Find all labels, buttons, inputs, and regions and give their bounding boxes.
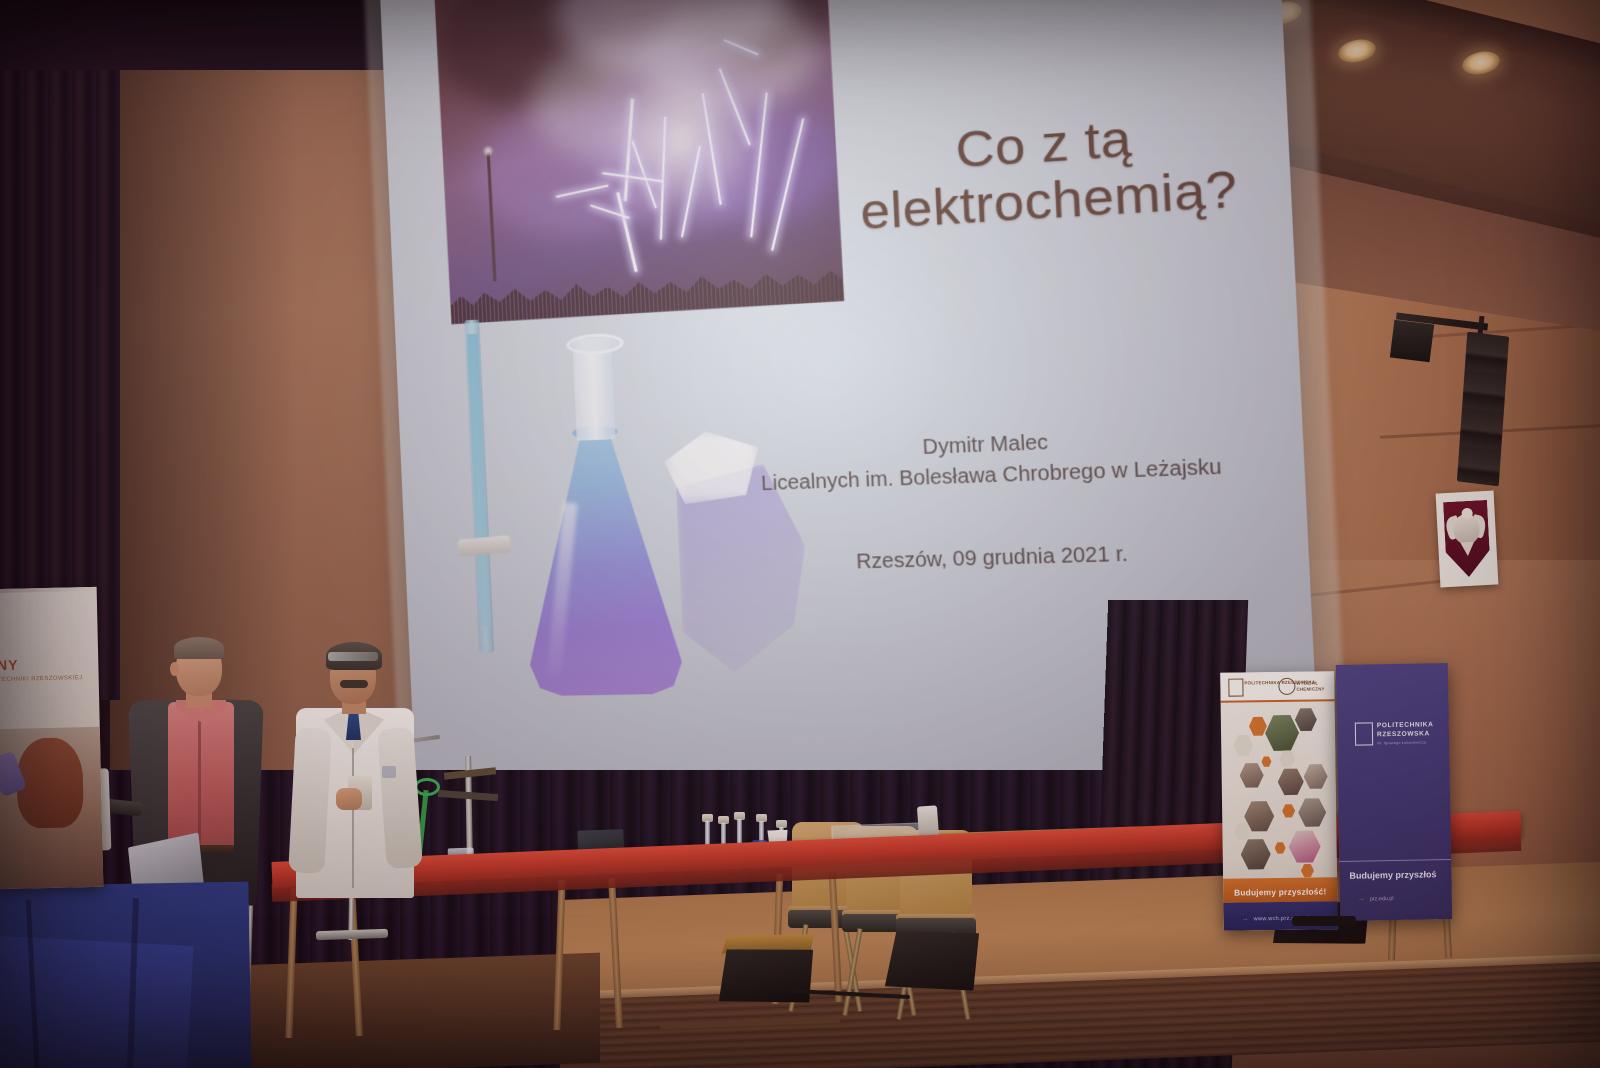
banner-logo-sub: im. Ignacego Łukasiewicza bbox=[1377, 740, 1426, 745]
hex-photo bbox=[1278, 768, 1304, 796]
rolled-paper bbox=[917, 805, 939, 838]
hex-outline bbox=[1233, 734, 1253, 756]
banner-url: prz.edu.pl bbox=[1370, 896, 1394, 902]
hand bbox=[336, 788, 362, 810]
roll-up-banner-left: AŁ CZNY POLITECHNIKI RZESZOWSKIEJ bbox=[0, 587, 103, 889]
shirt-placket bbox=[198, 716, 201, 846]
ear bbox=[170, 662, 179, 676]
lab-coat-button-line bbox=[352, 748, 354, 888]
stage-monitor-speaker bbox=[883, 928, 981, 993]
hex-photo bbox=[1298, 797, 1326, 827]
banner-faculty-name: WYDZIAŁ CHEMICZNY bbox=[1296, 680, 1334, 692]
hex-outline bbox=[1269, 858, 1287, 878]
arrow-icon: → bbox=[1242, 915, 1249, 922]
banner-person-hair bbox=[16, 737, 84, 828]
banner-rule bbox=[1221, 699, 1335, 703]
hex-accent bbox=[1249, 716, 1267, 736]
banner-top-bar bbox=[0, 587, 97, 593]
glasses-icon bbox=[328, 652, 378, 661]
arrow-icon: → bbox=[1358, 896, 1365, 903]
hex-photo bbox=[1303, 763, 1327, 789]
university-logo-mark-icon bbox=[1228, 678, 1243, 696]
lecture-hall-photo: Co z tą elektrochemią? Dymitr Malec Lice… bbox=[0, 0, 1600, 1068]
banner-base bbox=[1292, 916, 1356, 926]
hair bbox=[174, 637, 224, 659]
moustache bbox=[340, 680, 368, 688]
banner-left-line-1: AŁ bbox=[0, 637, 92, 655]
lab-coat-sleeve-left bbox=[288, 727, 332, 874]
hex-accent bbox=[1261, 756, 1271, 767]
equipment-case bbox=[717, 946, 815, 1005]
banner-rule bbox=[1339, 859, 1451, 862]
university-logo-mark-icon bbox=[1355, 722, 1373, 745]
roll-up-banner-faculty: POLITECHNIKA RZESZOWSKA WYDZIAŁ CHEMICZN… bbox=[1220, 671, 1338, 931]
hex-photo bbox=[1295, 707, 1317, 731]
banner-left-line-3: POLITECHNIKI RZESZOWSKIEJ bbox=[0, 675, 103, 684]
speaker-box bbox=[1390, 320, 1434, 363]
banner-logo-line-1: POLITECHNIKA bbox=[1377, 721, 1434, 729]
hex-photo bbox=[1241, 838, 1271, 870]
pink-shirt bbox=[168, 702, 234, 850]
banner-tagline: Budujemy przyszłość! bbox=[1223, 886, 1337, 898]
hex-photo bbox=[1288, 829, 1320, 863]
hex-accent bbox=[1282, 804, 1295, 818]
banner-logo-line-2: RZESZOWSKA bbox=[1377, 730, 1430, 738]
hex-accent bbox=[1301, 864, 1314, 878]
hex-outline bbox=[1279, 750, 1295, 768]
hex-photo bbox=[1239, 762, 1263, 788]
banner-tagline: Budujemy przyszłoś bbox=[1349, 869, 1436, 881]
polish-coat-of-arms bbox=[1436, 491, 1499, 588]
hex-photo bbox=[1265, 714, 1300, 752]
roll-up-banner-university: POLITECHNIKA RZESZOWSKA im. Ignacego Łuk… bbox=[1336, 663, 1452, 921]
presenter-in-lab-coat bbox=[290, 648, 420, 888]
banner-left-line-2: CZNY bbox=[0, 655, 96, 674]
hex-outline bbox=[1234, 822, 1250, 840]
lab-coat-logo bbox=[382, 766, 396, 778]
hex-accent bbox=[1275, 842, 1286, 854]
